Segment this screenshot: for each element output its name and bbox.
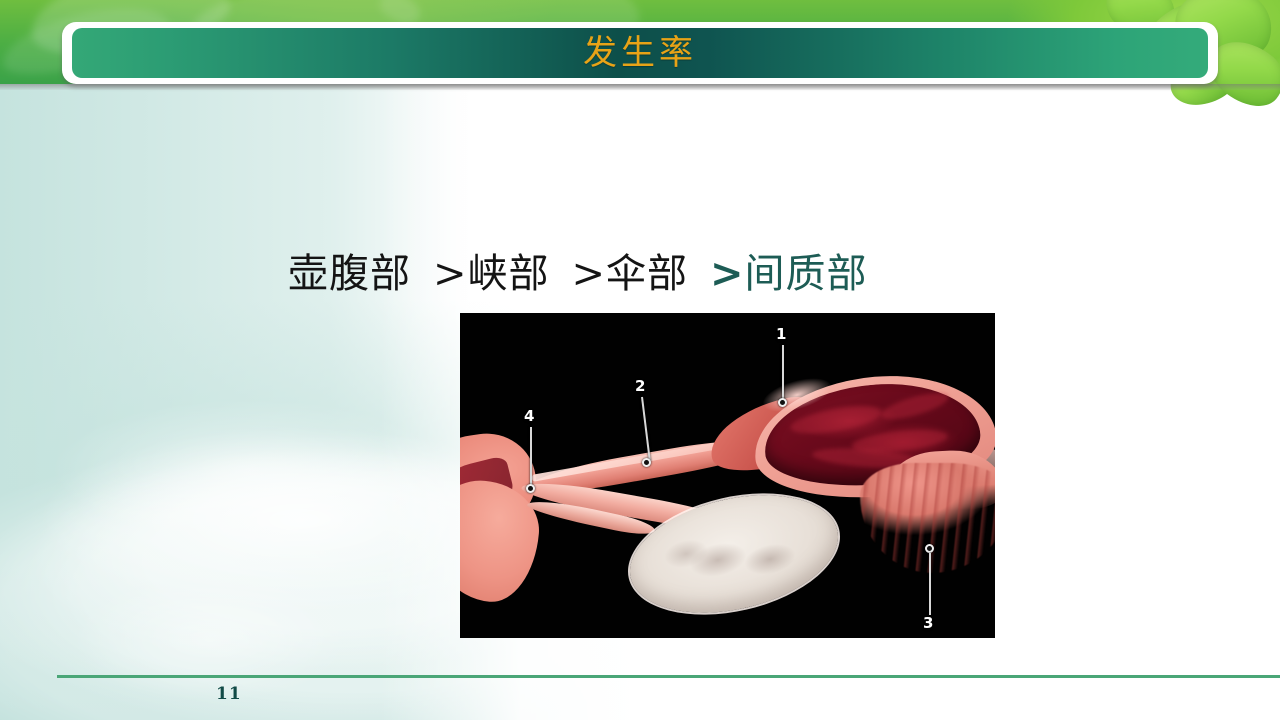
callout-label-4: 4 [524,409,534,424]
callout-label-3: 3 [923,616,933,631]
title-plate: 发生率 [72,28,1208,78]
footer-rule [57,675,1280,678]
callout-leader-3 [929,553,931,615]
ranking-part-fimbrial: >伞部 [572,252,689,296]
ranking-part-ampulla: 壶腹部 [288,252,411,296]
fimbriae-fringe [860,463,995,573]
ranking-gt-symbol: > [710,252,745,296]
callout-leader-4 [530,427,532,487]
anatomy-figure: 1 2 4 3 [460,313,995,638]
page-title: 发生率 [583,36,697,70]
page-number: 11 [216,684,242,704]
ranking-line: 壶腹部 >峡部 >伞部 > 间质部 [288,252,868,296]
callout-dot-2 [642,458,651,467]
callout-leader-1 [782,345,784,401]
callout-label-2: 2 [635,379,645,394]
callout-dot-4 [526,484,535,493]
callout-dot-3 [925,544,934,553]
callout-dot-1 [778,398,787,407]
callout-label-1: 1 [776,327,786,342]
slide-root: 发生率 壶腹部 >峡部 >伞部 > 间质部 [0,0,1280,720]
header-divider [0,84,1280,90]
ranking-part-isthmus: >峡部 [433,252,550,296]
callout-leader-2 [641,397,651,461]
anatomy-artwork: 1 2 4 3 [460,313,995,638]
ranking-part-interstitial: 间质部 [745,252,868,296]
